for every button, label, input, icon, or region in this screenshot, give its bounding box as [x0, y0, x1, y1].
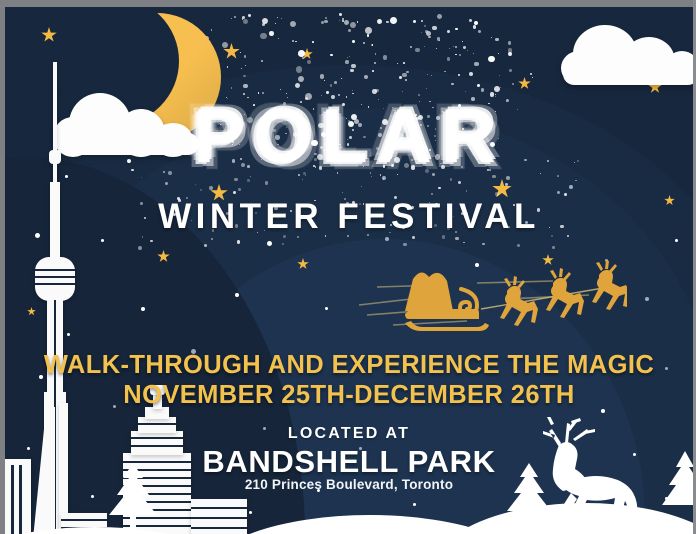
window-chrome-top-bar [0, 0, 696, 7]
dates-text: NOVEMBER 25TH-DECEMBER 26TH [5, 381, 693, 410]
page-subtitle-winter-festival: WINTER FESTIVAL [5, 197, 693, 237]
tagline-text: WALK-THROUGH AND EXPERIENCE THE MAGIC [5, 351, 693, 380]
window-chrome-left-edge [0, 0, 5, 534]
poster-canvas: POLAR WINTER FESTIVAL WALK-THROUGH AND E… [5, 7, 693, 534]
typography-layer: POLAR WINTER FESTIVAL WALK-THROUGH AND E… [5, 7, 693, 534]
venue-address: 210 Princes Boulevard, Toronto [5, 477, 693, 492]
poster-root: POLAR WINTER FESTIVAL WALK-THROUGH AND E… [0, 0, 696, 534]
located-at-label: LOCATED AT [5, 425, 693, 443]
venue-name: BANDSHELL PARK [5, 444, 693, 480]
page-title-polar: POLAR [5, 99, 693, 175]
